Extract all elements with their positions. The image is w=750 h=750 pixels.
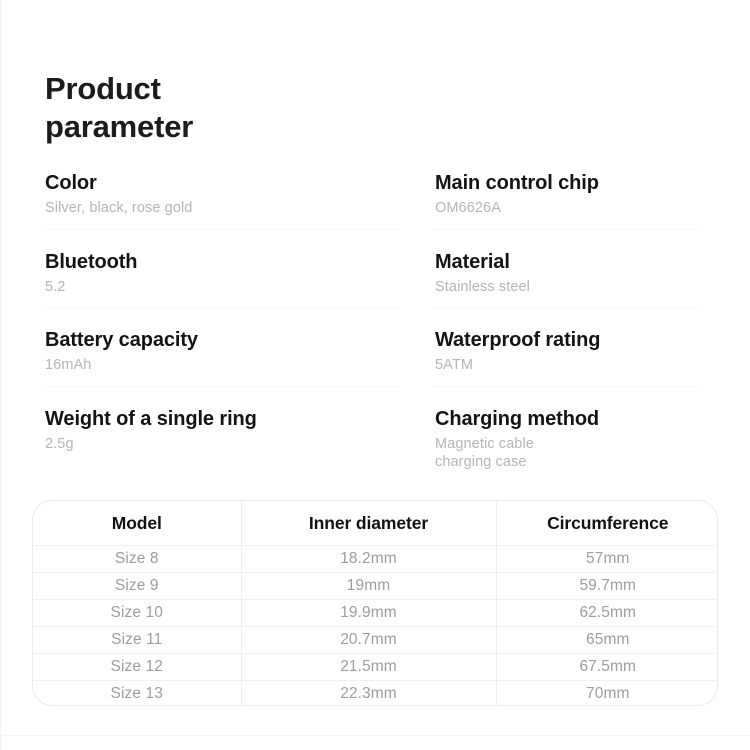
spec-label: Bluetooth	[45, 251, 421, 274]
cell-inner-diameter: 21.5mm	[241, 654, 496, 681]
column-header-model: Model	[33, 501, 241, 546]
cell-inner-diameter: 18.2mm	[241, 546, 496, 573]
cell-circumference: 62.5mm	[496, 600, 718, 627]
cell-inner-diameter: 19mm	[241, 573, 496, 600]
spec-item-color: Color Silver, black, rose gold	[45, 172, 435, 251]
spec-value: OM6626A	[435, 199, 705, 218]
cell-circumference: 67.5mm	[496, 654, 718, 681]
cell-model: Size 9	[33, 573, 241, 600]
spec-separator	[45, 307, 400, 308]
spec-label: Weight of a single ring	[45, 408, 421, 431]
spec-value: 5.2	[45, 278, 421, 297]
cell-model: Size 12	[33, 654, 241, 681]
spec-row: Bluetooth 5.2 Material Stainless steel	[45, 251, 705, 330]
spec-row: Weight of a single ring 2.5g Charging me…	[45, 408, 705, 490]
cell-model: Size 13	[33, 681, 241, 707]
spec-item-battery-capacity: Battery capacity 16mAh	[45, 329, 435, 408]
spec-value: Stainless steel	[435, 278, 705, 297]
spec-value: 5ATM	[435, 356, 705, 375]
spec-label: Material	[435, 251, 705, 274]
spec-label: Color	[45, 172, 421, 195]
spec-item-main-control-chip: Main control chip OM6626A	[435, 172, 705, 251]
product-parameter-page: Product parameter Color Silver, black, r…	[0, 0, 750, 750]
spec-item-charging-method: Charging method Magnetic cable charging …	[435, 408, 705, 490]
spec-list: Color Silver, black, rose gold Main cont…	[45, 172, 705, 490]
table-row: Size 10 19.9mm 62.5mm	[33, 600, 718, 627]
spec-value: Silver, black, rose gold	[45, 199, 421, 218]
spec-separator	[435, 229, 700, 230]
cell-model: Size 8	[33, 546, 241, 573]
spec-separator	[45, 386, 400, 387]
spec-label: Main control chip	[435, 172, 705, 195]
cell-model: Size 10	[33, 600, 241, 627]
cell-circumference: 57mm	[496, 546, 718, 573]
spec-row: Battery capacity 16mAh Waterproof rating…	[45, 329, 705, 408]
spec-label: Waterproof rating	[435, 329, 705, 352]
page-title: Product parameter	[45, 70, 475, 146]
table-row: Size 8 18.2mm 57mm	[33, 546, 718, 573]
table-row: Size 11 20.7mm 65mm	[33, 627, 718, 654]
page-bottom-edge-rule	[0, 735, 750, 736]
spec-item-bluetooth: Bluetooth 5.2	[45, 251, 435, 330]
table-row: Size 9 19mm 59.7mm	[33, 573, 718, 600]
spec-value: 2.5g	[45, 435, 421, 454]
cell-inner-diameter: 20.7mm	[241, 627, 496, 654]
spec-separator	[435, 307, 700, 308]
spec-separator	[45, 229, 400, 230]
spec-separator	[435, 386, 700, 387]
cell-circumference: 65mm	[496, 627, 718, 654]
spec-item-material: Material Stainless steel	[435, 251, 705, 330]
page-left-edge-rule	[0, 0, 1, 750]
spec-label: Battery capacity	[45, 329, 421, 352]
size-chart-table: Model Inner diameter Circumference Size …	[32, 500, 718, 706]
table-header-row: Model Inner diameter Circumference	[33, 501, 718, 546]
cell-inner-diameter: 19.9mm	[241, 600, 496, 627]
spec-row: Color Silver, black, rose gold Main cont…	[45, 172, 705, 251]
spec-label: Charging method	[435, 408, 705, 431]
table-row: Size 13 22.3mm 70mm	[33, 681, 718, 707]
cell-inner-diameter: 22.3mm	[241, 681, 496, 707]
spec-value: Magnetic cable charging case	[435, 435, 705, 472]
spec-item-weight-of-a-single-ring: Weight of a single ring 2.5g	[45, 408, 435, 490]
spec-item-waterproof-rating: Waterproof rating 5ATM	[435, 329, 705, 408]
cell-circumference: 70mm	[496, 681, 718, 707]
column-header-inner-diameter: Inner diameter	[241, 501, 496, 546]
spec-value: 16mAh	[45, 356, 421, 375]
column-header-circumference: Circumference	[496, 501, 718, 546]
cell-circumference: 59.7mm	[496, 573, 718, 600]
cell-model: Size 11	[33, 627, 241, 654]
table-row: Size 12 21.5mm 67.5mm	[33, 654, 718, 681]
